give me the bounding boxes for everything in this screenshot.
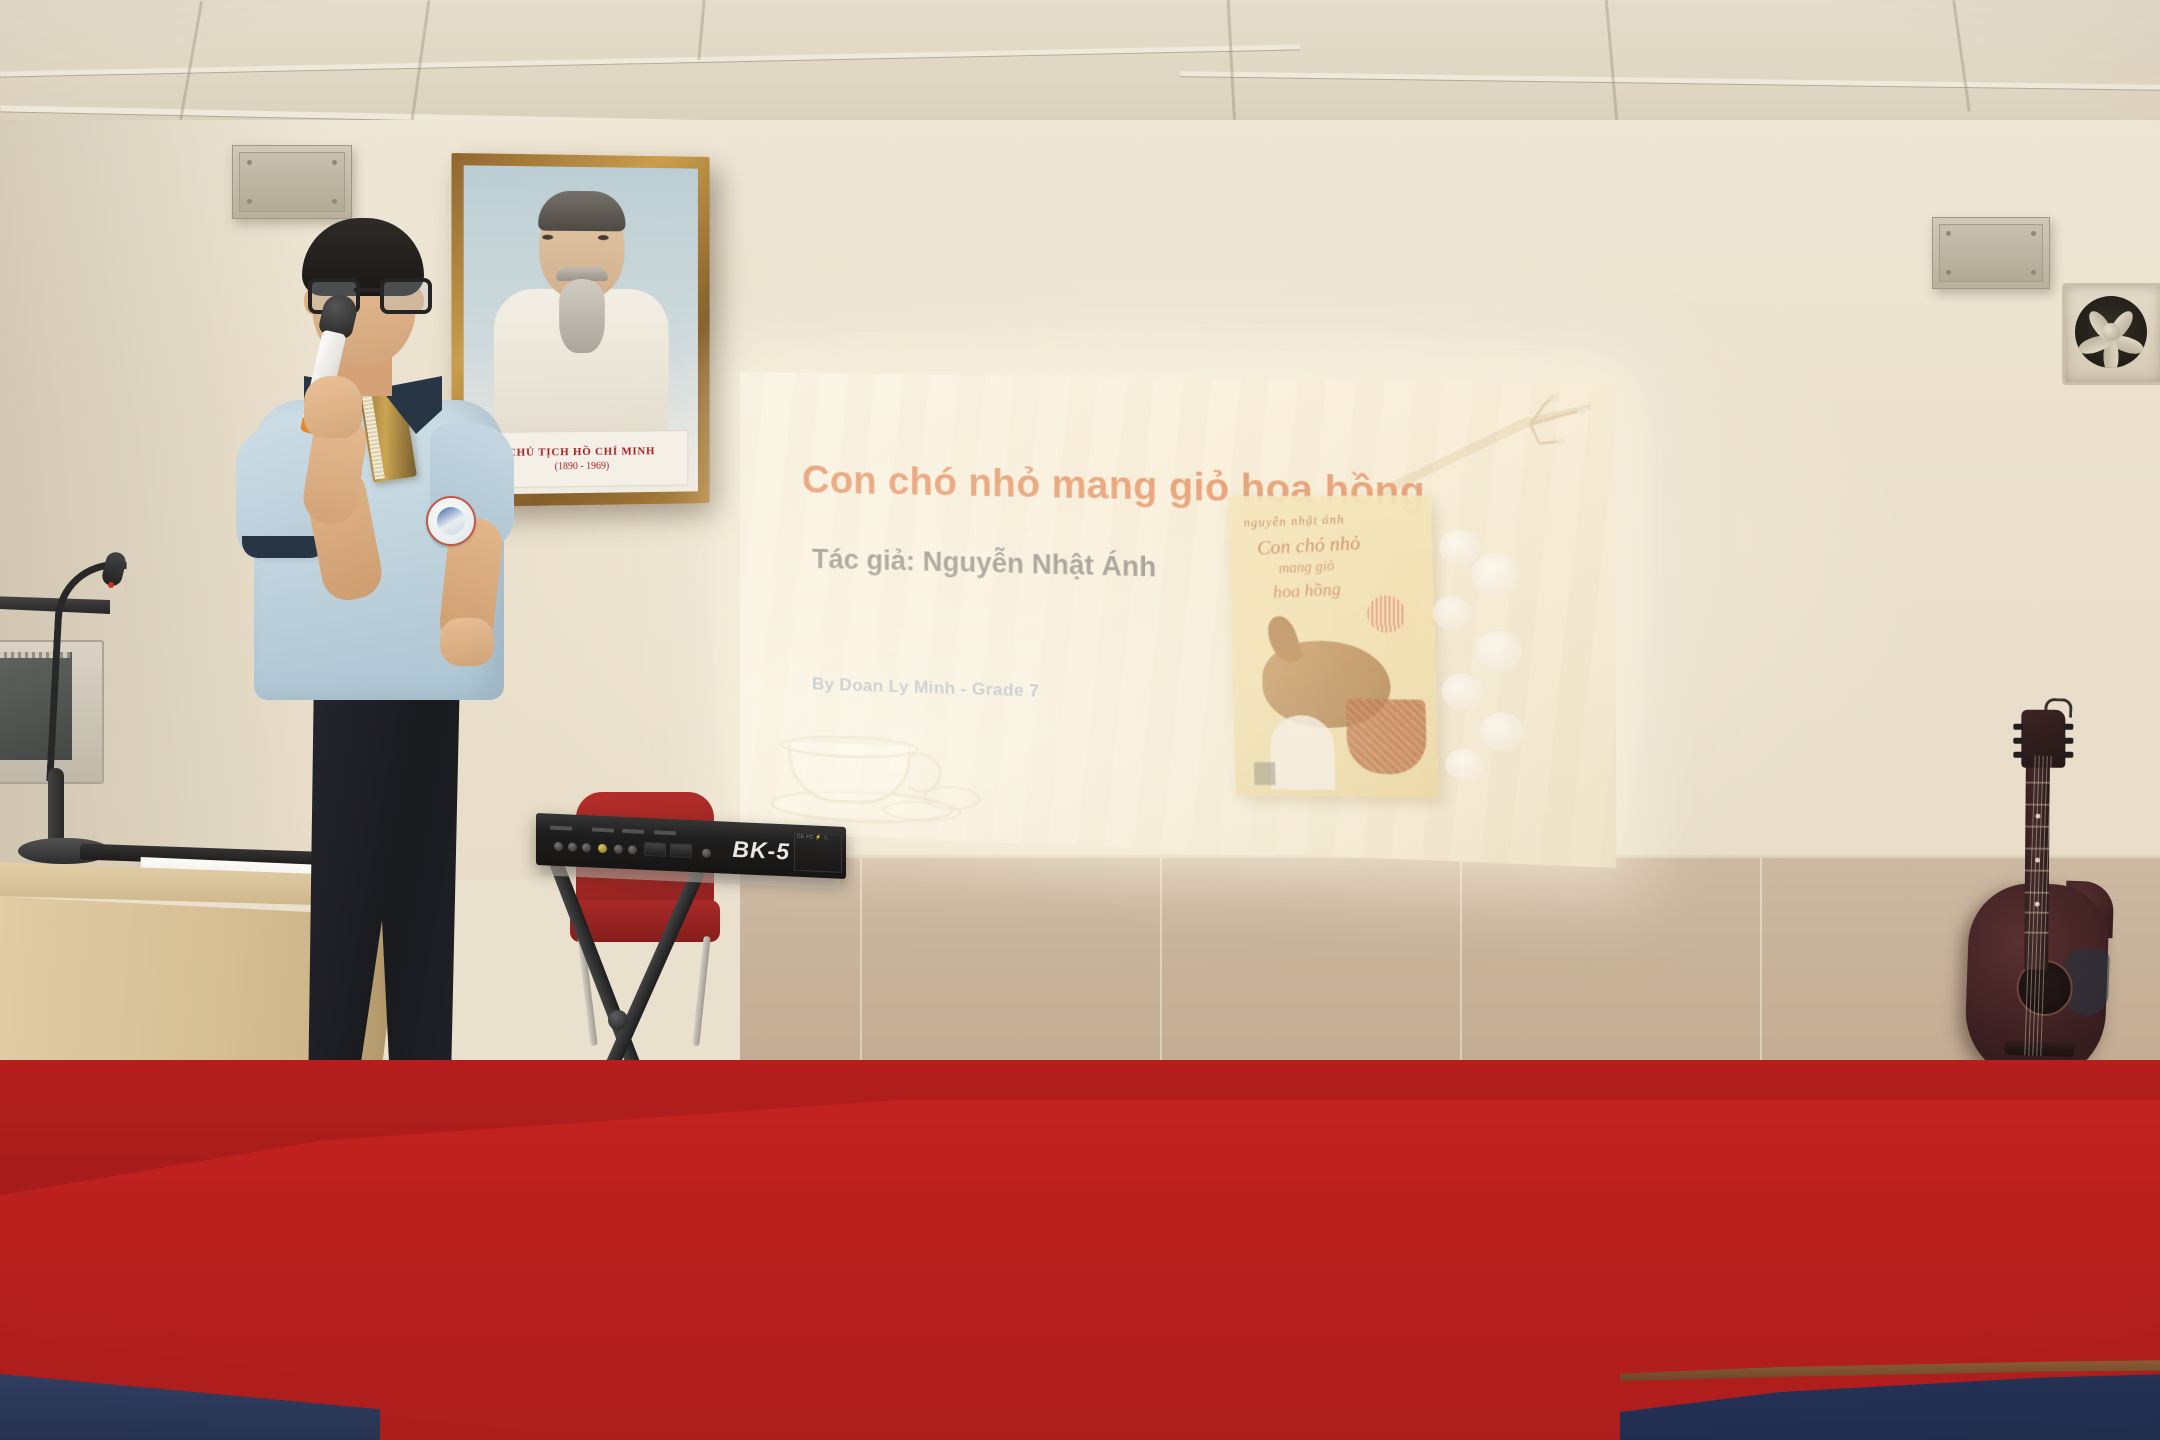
ceiling-seam <box>1952 0 1971 111</box>
exhaust-fan-icon <box>2062 283 2160 385</box>
ceiling-rail <box>1180 71 2160 90</box>
presentation-photo-scene: CHỦ TỊCH HỒ CHÍ MINH (1890 - 1969) Con c… <box>0 0 2160 1440</box>
book-cover-author: nguyễn nhật ánh <box>1243 510 1404 531</box>
keyboard-cert-text: CE FC ⚡ ⚠ <box>797 835 828 841</box>
book-cover-title-1: Con chó nhỏ <box>1256 533 1361 561</box>
keyboard-stand-pivot <box>608 1010 628 1030</box>
gooseneck-mic-stem <box>48 768 64 846</box>
book-cover-image: nguyễn nhật ánh Con chó nhỏ mang giỏ hoa… <box>1228 496 1438 798</box>
wall-speaker-icon <box>232 145 352 219</box>
right-hand <box>440 618 494 666</box>
ceiling-rail <box>0 44 1300 76</box>
ceiling-seam <box>1227 0 1237 128</box>
book-cover-title-2: mang giỏ <box>1278 559 1335 578</box>
school-crest-badge <box>426 496 476 546</box>
flower-basket-shape <box>1346 699 1427 775</box>
ceiling-seam <box>1605 0 1618 120</box>
keyboard-model-label: BK-5 <box>732 836 790 866</box>
ceiling-seam <box>697 0 705 60</box>
projected-slide: Con chó nhỏ mang giỏ hoa hồng Tác giả: N… <box>740 372 1616 868</box>
portrait-caption-years: (1890 - 1969) <box>555 461 610 473</box>
keyboard-certification-plate: CE FC ⚡ ⚠ <box>794 833 842 873</box>
dog-chest-shape <box>1270 715 1336 790</box>
portrait-caption-name: CHỦ TỊCH HỒ CHÍ MINH <box>508 445 655 459</box>
blossom-sprig-icon <box>1426 506 1556 802</box>
wall-speaker-icon <box>1932 217 2050 289</box>
sleeve-cuff <box>242 536 326 558</box>
book-cover-seal-icon <box>1367 595 1407 633</box>
trousers <box>308 670 460 1126</box>
book-cover-title-3: hoa hồng <box>1272 579 1341 603</box>
teacup-illustration-icon <box>770 725 1003 833</box>
left-hand <box>304 376 362 438</box>
acoustic-guitar <box>1955 689 2139 1095</box>
publisher-logo-icon <box>1254 762 1276 785</box>
mic-led-indicator <box>108 582 114 588</box>
